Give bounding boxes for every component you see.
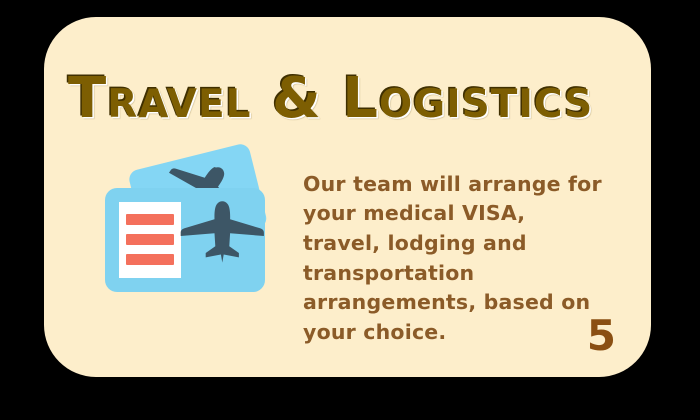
ticket-detail-line-3	[126, 254, 174, 265]
ticket-detail-line-2	[126, 234, 174, 245]
description-text: Our team will arrange for your medical V…	[303, 170, 608, 348]
travel-tickets-svg	[99, 142, 289, 312]
travel-tickets-icon	[99, 142, 289, 312]
slide-canvas: Travel & Logistics	[0, 0, 700, 420]
page-number: 5	[587, 315, 616, 357]
page-title: Travel & Logistics	[68, 70, 638, 129]
ticket-detail-line-1	[126, 214, 174, 225]
content-card: Travel & Logistics	[44, 17, 651, 377]
